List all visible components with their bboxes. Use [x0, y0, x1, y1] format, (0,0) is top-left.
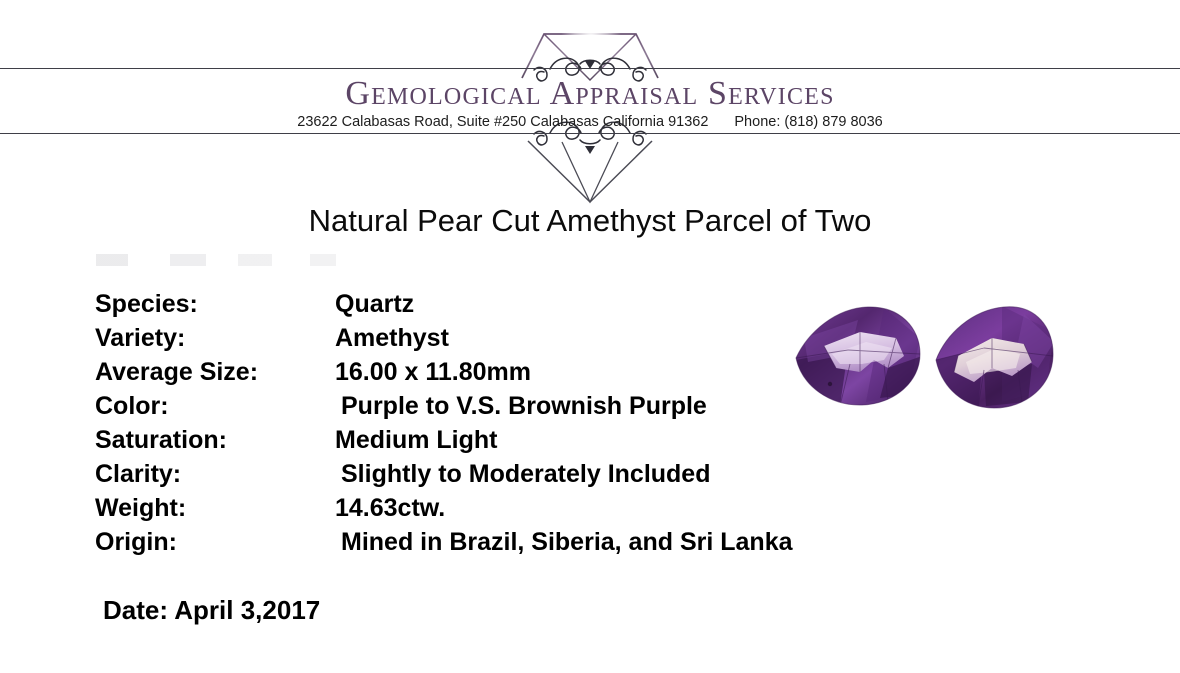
appraisal-certificate-page: Gemological Appraisal Services 23622 Cal…	[0, 0, 1180, 673]
date-line: Date: April 3,2017	[103, 593, 320, 627]
phone-text: Phone: (818) 879 8036	[734, 114, 882, 130]
spec-row: Origin:Mined in Brazil, Siberia, and Sri…	[95, 526, 915, 560]
spec-label: Weight:	[95, 492, 186, 525]
spec-value: Purple to V.S. Brownish Purple	[341, 390, 707, 423]
spec-label: Clarity:	[95, 458, 181, 491]
spec-label: Variety:	[95, 322, 185, 355]
address-line: 23622 Calabasas Road, Suite #250 Calabas…	[0, 113, 1180, 131]
spec-label: Color:	[95, 390, 169, 423]
spec-value: Quartz	[335, 288, 414, 321]
spec-label: Average Size:	[95, 356, 258, 389]
address-text: 23622 Calabasas Road, Suite #250 Calabas…	[297, 114, 708, 130]
spec-value: Slightly to Moderately Included	[341, 458, 710, 491]
pear-cut-amethyst-pair-photo-icon	[788, 298, 1060, 414]
spec-label: Species:	[95, 288, 198, 321]
page-title: Natural Pear Cut Amethyst Parcel of Two	[0, 200, 1180, 242]
header-rule-bottom	[0, 133, 1180, 134]
spec-value: 14.63ctw.	[335, 492, 445, 525]
spec-value: Amethyst	[335, 322, 449, 355]
spec-value: Mined in Brazil, Siberia, and Sri Lanka	[341, 526, 793, 559]
header-rule-top	[0, 68, 1180, 69]
spec-row: Saturation:Medium Light	[95, 424, 915, 458]
letterhead: Gemological Appraisal Services 23622 Cal…	[0, 0, 1180, 205]
spec-label: Origin:	[95, 526, 177, 559]
spec-row: Weight:14.63ctw.	[95, 492, 915, 526]
spec-label: Saturation:	[95, 424, 227, 457]
spec-value: 16.00 x 11.80mm	[335, 356, 531, 389]
scan-artifact	[96, 254, 346, 266]
spec-value: Medium Light	[335, 424, 497, 457]
company-name: Gemological Appraisal Services	[0, 76, 1180, 112]
spec-row: Clarity:Slightly to Moderately Included	[95, 458, 915, 492]
